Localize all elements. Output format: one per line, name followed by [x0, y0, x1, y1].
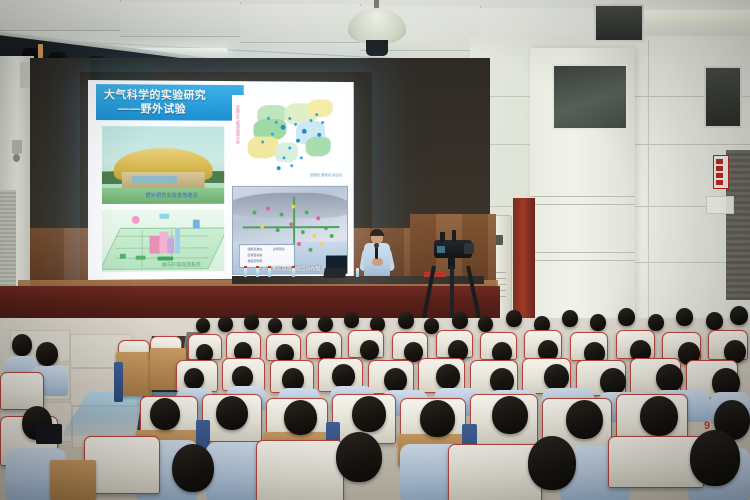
map-legend: 观测站 基准站 探空站	[310, 173, 342, 178]
wall-seam	[530, 196, 635, 197]
audience-head	[318, 316, 333, 332]
audience-head	[648, 314, 664, 331]
audience-head	[352, 396, 386, 432]
seat-side-panel	[114, 362, 123, 402]
audience-head	[172, 444, 214, 492]
audience-head	[562, 310, 578, 327]
audience-head	[436, 364, 460, 389]
sat-legend-item: 国家基准站	[248, 247, 263, 251]
table-item-red	[424, 272, 446, 277]
camera-mic-icon	[440, 232, 445, 242]
presenter-table	[232, 276, 484, 284]
control-room-window	[552, 64, 628, 130]
audience-head	[656, 364, 683, 392]
ceiling-strip-light	[628, 10, 750, 20]
audience-head	[420, 400, 455, 437]
wall-grille-panel	[726, 150, 750, 300]
map-region	[308, 99, 333, 117]
diagram-aircraft-icon	[159, 214, 169, 219]
audience-head	[268, 318, 282, 333]
seat-frame	[50, 460, 96, 500]
microphone-head-icon	[374, 243, 379, 248]
pendant-light-icon	[348, 8, 406, 44]
seat-back[interactable]	[0, 372, 44, 410]
slide-photo-facility: 野外研究实验基地建设	[102, 126, 224, 204]
photo-window-band	[132, 176, 177, 184]
audience-head	[590, 314, 606, 331]
diagram-ground-station	[136, 256, 146, 260]
diagram-tower	[175, 228, 180, 254]
map-side-label: 全国大气观测站网分布	[235, 105, 241, 145]
audience-head	[452, 312, 468, 329]
audience-head	[36, 342, 58, 366]
projection-screen[interactable]: 大气科学的实验研究 ——野外试验 野外研究实验基地建设	[88, 80, 354, 280]
slide-diagram-monitoring: 城市环境观测系统	[102, 210, 224, 272]
wall-notice-sign	[706, 196, 734, 214]
audience-head	[398, 312, 414, 329]
sat-legend-item: 边界层站	[273, 247, 285, 251]
diagram-block	[167, 238, 174, 254]
camera-mic-icon	[452, 230, 456, 242]
sat-legend-item: 梯度观测塔	[248, 259, 263, 263]
camera-lens-icon	[464, 243, 474, 254]
map-region	[306, 137, 331, 157]
slide-map-china: 全国大气观测站网分布	[232, 95, 346, 184]
wall-fixture	[12, 140, 22, 154]
audience-head	[150, 398, 180, 430]
seat-back[interactable]	[256, 440, 344, 500]
sat-legend-item: 区域自动站	[248, 253, 263, 257]
audience-head	[618, 308, 635, 326]
audience-head	[690, 430, 740, 486]
ceiling-panel	[0, 0, 121, 31]
camera-viewfinder-icon	[437, 246, 445, 253]
laptop[interactable]	[323, 268, 347, 278]
presenter-hands	[372, 258, 383, 266]
audience-head	[730, 306, 748, 325]
audience-head	[478, 316, 493, 332]
audience-head	[12, 334, 32, 356]
ceiling-panel	[120, 2, 241, 37]
audience-head	[506, 310, 522, 327]
wall-sensor-icon	[13, 154, 20, 162]
slide-diagram-caption: 城市环境观测系统	[161, 261, 200, 268]
exit-door[interactable]	[513, 198, 535, 328]
sat-legend-box: 国家基准站 区域自动站 梯度观测塔 边界层站	[239, 244, 295, 268]
slide-title-bar: 大气科学的实验研究 ——野外试验	[96, 84, 244, 121]
audience-head	[676, 308, 693, 326]
handheld-device[interactable]	[36, 424, 62, 444]
wall-speaker-icon	[594, 4, 644, 42]
map-region	[275, 143, 298, 163]
audience-head	[184, 368, 204, 389]
audience-head	[544, 364, 569, 390]
audience-head	[360, 340, 379, 360]
ceiling-panel	[240, 4, 361, 43]
slide-map-satellite: 国家基准站 区域自动站 梯度观测塔 边界层站 长三角区域观测站点分布图	[232, 186, 348, 275]
audience-head	[216, 396, 248, 430]
audience-head	[332, 364, 355, 388]
audience-head	[232, 366, 253, 388]
audience-head	[384, 368, 407, 392]
spotlight-tag	[38, 44, 43, 58]
audience-head	[640, 396, 678, 436]
diagram-ground-station	[120, 254, 126, 259]
audience-head	[706, 312, 723, 330]
audience-head	[284, 400, 317, 435]
audience-head	[528, 436, 576, 490]
presenter-glasses-icon	[371, 235, 383, 239]
diagram-ground-station	[157, 256, 173, 260]
slide-title-line2: ——野外试验	[104, 102, 244, 117]
auditorium-photo: 大气科学的实验研究 ——野外试验 野外研究实验基地建设	[0, 0, 750, 500]
wall-seam	[530, 260, 635, 261]
wall-speaker-icon	[704, 66, 742, 128]
sat-terrain-ridge	[232, 193, 348, 219]
audience-head	[218, 316, 233, 332]
pendant-light-neck	[366, 40, 388, 56]
audience-head	[492, 396, 528, 434]
audience-head	[292, 314, 307, 330]
slide-photo-caption: 野外研究实验基地建设	[146, 192, 198, 199]
wall-seam	[530, 252, 635, 253]
audience-head	[600, 368, 626, 395]
diagram-satellite-icon	[193, 220, 200, 229]
audience-head	[336, 432, 382, 482]
wall-seam	[530, 204, 635, 205]
audience-head	[244, 314, 259, 330]
diagram-gridline	[142, 230, 143, 268]
diagram-balloon-icon	[132, 216, 140, 224]
audience-head	[196, 318, 210, 333]
slide-title-line1: 大气科学的实验研究	[104, 88, 244, 103]
slide-surface: 大气科学的实验研究 ——野外试验 野外研究实验基地建设	[88, 80, 354, 280]
audience-head	[344, 312, 359, 328]
audience-head	[566, 400, 603, 439]
